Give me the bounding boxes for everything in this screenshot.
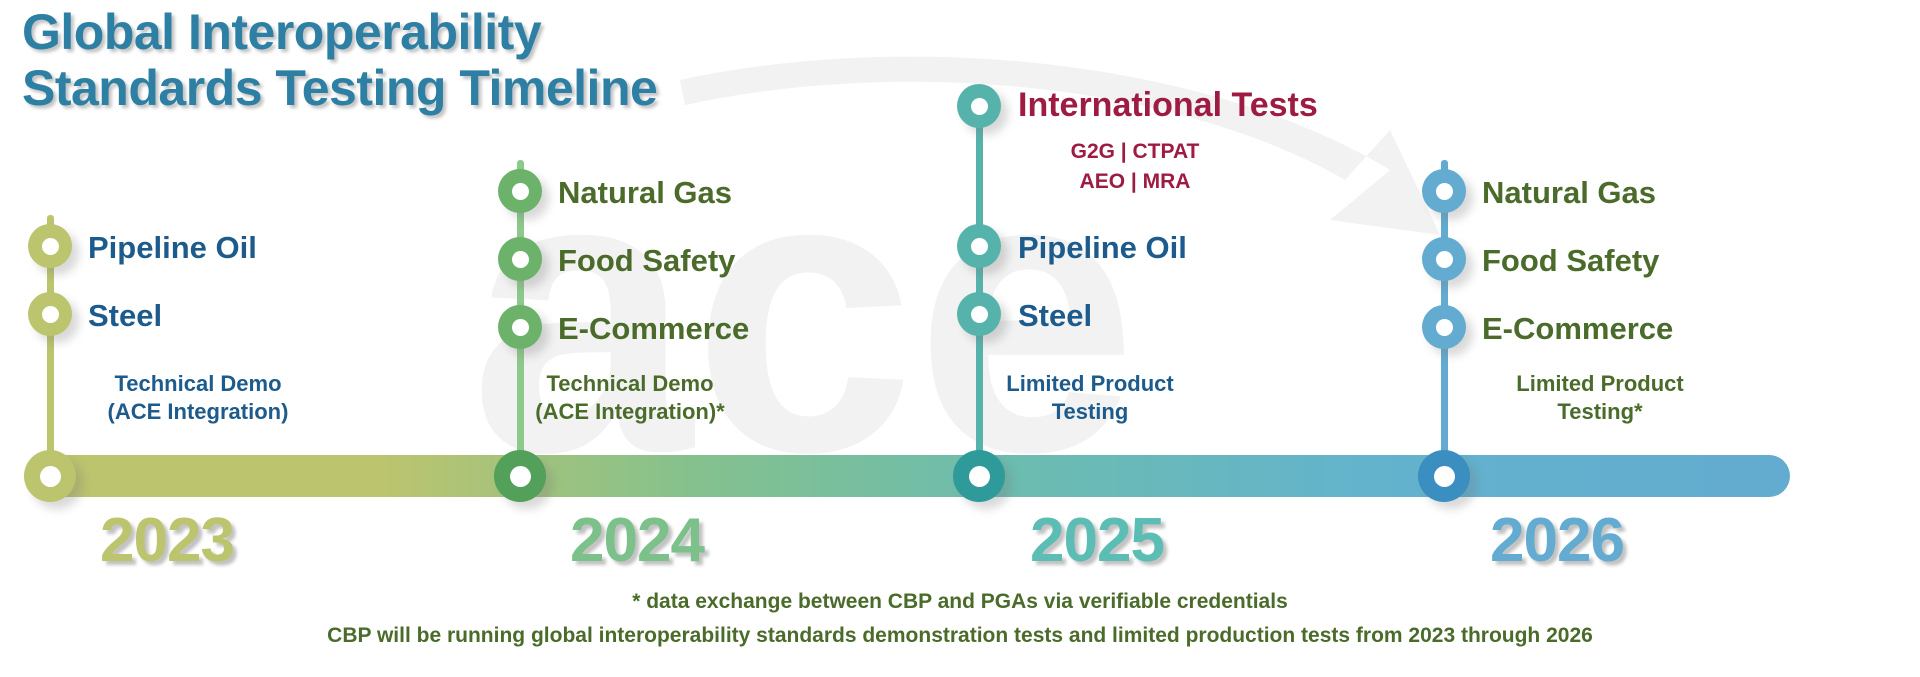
item-label-2026-0: Natural Gas — [1482, 175, 1656, 211]
item-label-2024-1: Food Safety — [558, 243, 735, 279]
item-label-2024-2: E-Commerce — [558, 311, 749, 347]
node-2025-anchor[interactable] — [953, 450, 1005, 502]
description-2025: Limited Product Testing — [900, 370, 1280, 425]
node-2025-item-0[interactable] — [957, 224, 1001, 268]
node-2023-item-1[interactable] — [28, 292, 72, 336]
node-2026-item-0[interactable] — [1422, 169, 1466, 213]
item-label-2023-0: Pipeline Oil — [88, 230, 257, 266]
footnote-verifiable-credentials: * data exchange between CBP and PGAs via… — [0, 590, 1920, 614]
node-2026-item-1[interactable] — [1422, 237, 1466, 281]
year-label-2023: 2023 — [100, 505, 234, 576]
item-label-2026-2: E-Commerce — [1482, 311, 1673, 347]
heading-2025-international-tests: International Tests — [1018, 86, 1318, 125]
timeline-bar — [28, 455, 1790, 497]
node-2023-anchor[interactable] — [24, 450, 76, 502]
subtitle-2025-0: G2G | CTPAT — [1000, 140, 1270, 164]
item-label-2023-1: Steel — [88, 298, 162, 334]
node-2026-anchor[interactable] — [1418, 450, 1470, 502]
year-label-2026: 2026 — [1490, 505, 1624, 576]
description-2026: Limited Product Testing* — [1410, 370, 1790, 425]
timeline-infographic: ace Global Interoperability Standards Te… — [0, 0, 1920, 677]
description-2023: Technical Demo (ACE Integration) — [8, 370, 388, 425]
item-label-2026-1: Food Safety — [1482, 243, 1659, 279]
node-2024-item-0[interactable] — [498, 169, 542, 213]
year-label-2025: 2025 — [1030, 505, 1164, 576]
node-2026-item-2[interactable] — [1422, 305, 1466, 349]
node-2025-item-1[interactable] — [957, 292, 1001, 336]
year-label-2024: 2024 — [570, 505, 704, 576]
subtitle-2025-1: AEO | MRA — [1000, 170, 1270, 194]
item-label-2025-0: Pipeline Oil — [1018, 230, 1187, 266]
page-title: Global Interoperability Standards Testin… — [22, 4, 657, 116]
description-2024: Technical Demo (ACE Integration)* — [430, 370, 830, 425]
node-2024-item-2[interactable] — [498, 305, 542, 349]
node-2024-anchor[interactable] — [494, 450, 546, 502]
node-2023-item-0[interactable] — [28, 224, 72, 268]
item-label-2024-0: Natural Gas — [558, 175, 732, 211]
node-2025-heading[interactable] — [957, 84, 1001, 128]
footer-summary-note: CBP will be running global interoperabil… — [0, 624, 1920, 648]
item-label-2025-1: Steel — [1018, 298, 1092, 334]
node-2024-item-1[interactable] — [498, 237, 542, 281]
